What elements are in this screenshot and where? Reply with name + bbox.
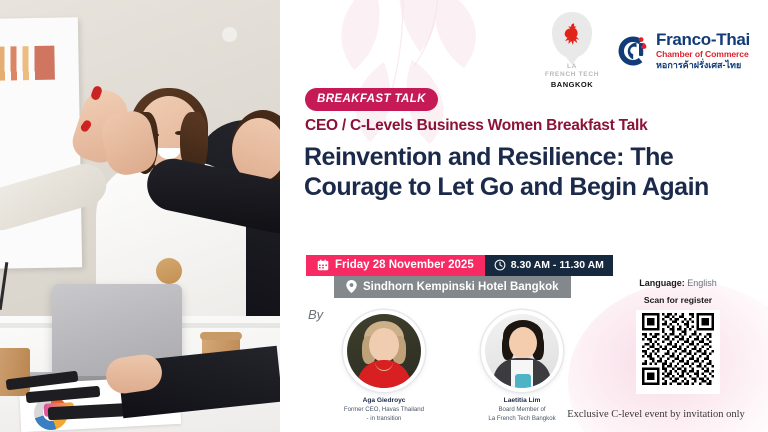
language-value: English [687,278,717,288]
calendar-icon [317,259,329,271]
speaker-role-line1: Former CEO, Havas Thailand [338,406,430,415]
franco-thai-subtitle: Chamber of Commerce [656,50,750,59]
map-pin-shape [552,12,592,58]
speaker-name: Aga Giedroyc [338,397,430,404]
french-tech-wordmark: LA FRENCH TECH [545,63,599,79]
franco-thai-thai-text: หอการค้าฝรั่งเศส-ไทย [656,61,750,70]
breakfast-talk-badge: BREAKFAST TALK [305,88,438,111]
page-title: Reinvention and Resilience: The Courage … [304,142,724,203]
french-tech-city: BANGKOK [551,80,593,89]
scan-label: Scan for register [602,295,754,305]
avatar [485,314,559,388]
logo-row: LA FRENCH TECH BANGKOK Franco-Thai Chamb… [542,12,750,89]
location-badge: Sindhorn Kempinski Hotel Bangkok [334,276,571,298]
speaker-card: Aga Giedroyc Former CEO, Havas Thailand … [338,310,430,424]
rooster-icon [561,22,583,48]
la-french-tech-logo: LA FRENCH TECH BANGKOK [542,12,602,89]
poster-content: LA FRENCH TECH BANGKOK Franco-Thai Chamb… [280,0,768,432]
speaker-role-line2: La French Tech Bangkok [476,415,568,424]
event-details: Friday 28 November 2025 8.30 AM - 11.30 … [306,255,613,298]
speaker-role-line1: Board Member of [476,406,568,415]
qr-code[interactable] [636,310,720,394]
speaker-role: Former CEO, Havas Thailand - in transiti… [338,406,430,424]
location-text: Sindhorn Kempinski Hotel Bangkok [363,281,559,293]
avatar [347,314,421,388]
details-row-primary: Friday 28 November 2025 8.30 AM - 11.30 … [306,255,613,276]
avatar-ring [343,310,425,392]
by-label: By [308,307,323,322]
speaker-card: Laetitia Lim Board Member of La French T… [476,310,568,424]
language-label: Language: [639,278,685,288]
language-line: Language: English [602,278,754,288]
event-poster: LA FRENCH TECH BANGKOK Franco-Thai Chamb… [0,0,768,432]
photo-coffee-lid-right [200,332,242,340]
speaker-role: Board Member of La French Tech Bangkok [476,406,568,424]
franco-thai-wordmark: Franco-Thai Chamber of Commerce หอการค้า… [656,31,750,70]
speaker-name: Laetitia Lim [476,397,568,404]
hero-photo [0,0,280,432]
date-text: Friday 28 November 2025 [335,259,474,271]
franco-thai-name: Franco-Thai [656,31,750,48]
registration-block: Language: English Scan for register [602,278,754,394]
speaker-list: Aga Giedroyc Former CEO, Havas Thailand … [338,310,568,424]
cci-monogram-icon [616,34,650,68]
photo-laptop-logo [156,258,182,284]
qr-code-image[interactable] [642,313,714,385]
time-badge: 8.30 AM - 11.30 AM [485,255,613,276]
time-text: 8.30 AM - 11.30 AM [511,259,604,271]
french-tech-line2: FRENCH TECH [545,71,599,79]
date-badge: Friday 28 November 2025 [306,255,485,276]
franco-thai-logo: Franco-Thai Chamber of Commerce หอการค้า… [616,31,750,70]
map-pin-icon [346,280,357,293]
invitation-tagline: Exclusive C-level event by invitation on… [556,409,756,420]
speaker-role-line2: - in transition [338,415,430,424]
clock-icon [494,259,506,271]
event-subtitle: CEO / C-Levels Business Women Breakfast … [305,117,647,135]
photo-whiteboard [0,17,82,268]
avatar-ring [481,310,563,392]
